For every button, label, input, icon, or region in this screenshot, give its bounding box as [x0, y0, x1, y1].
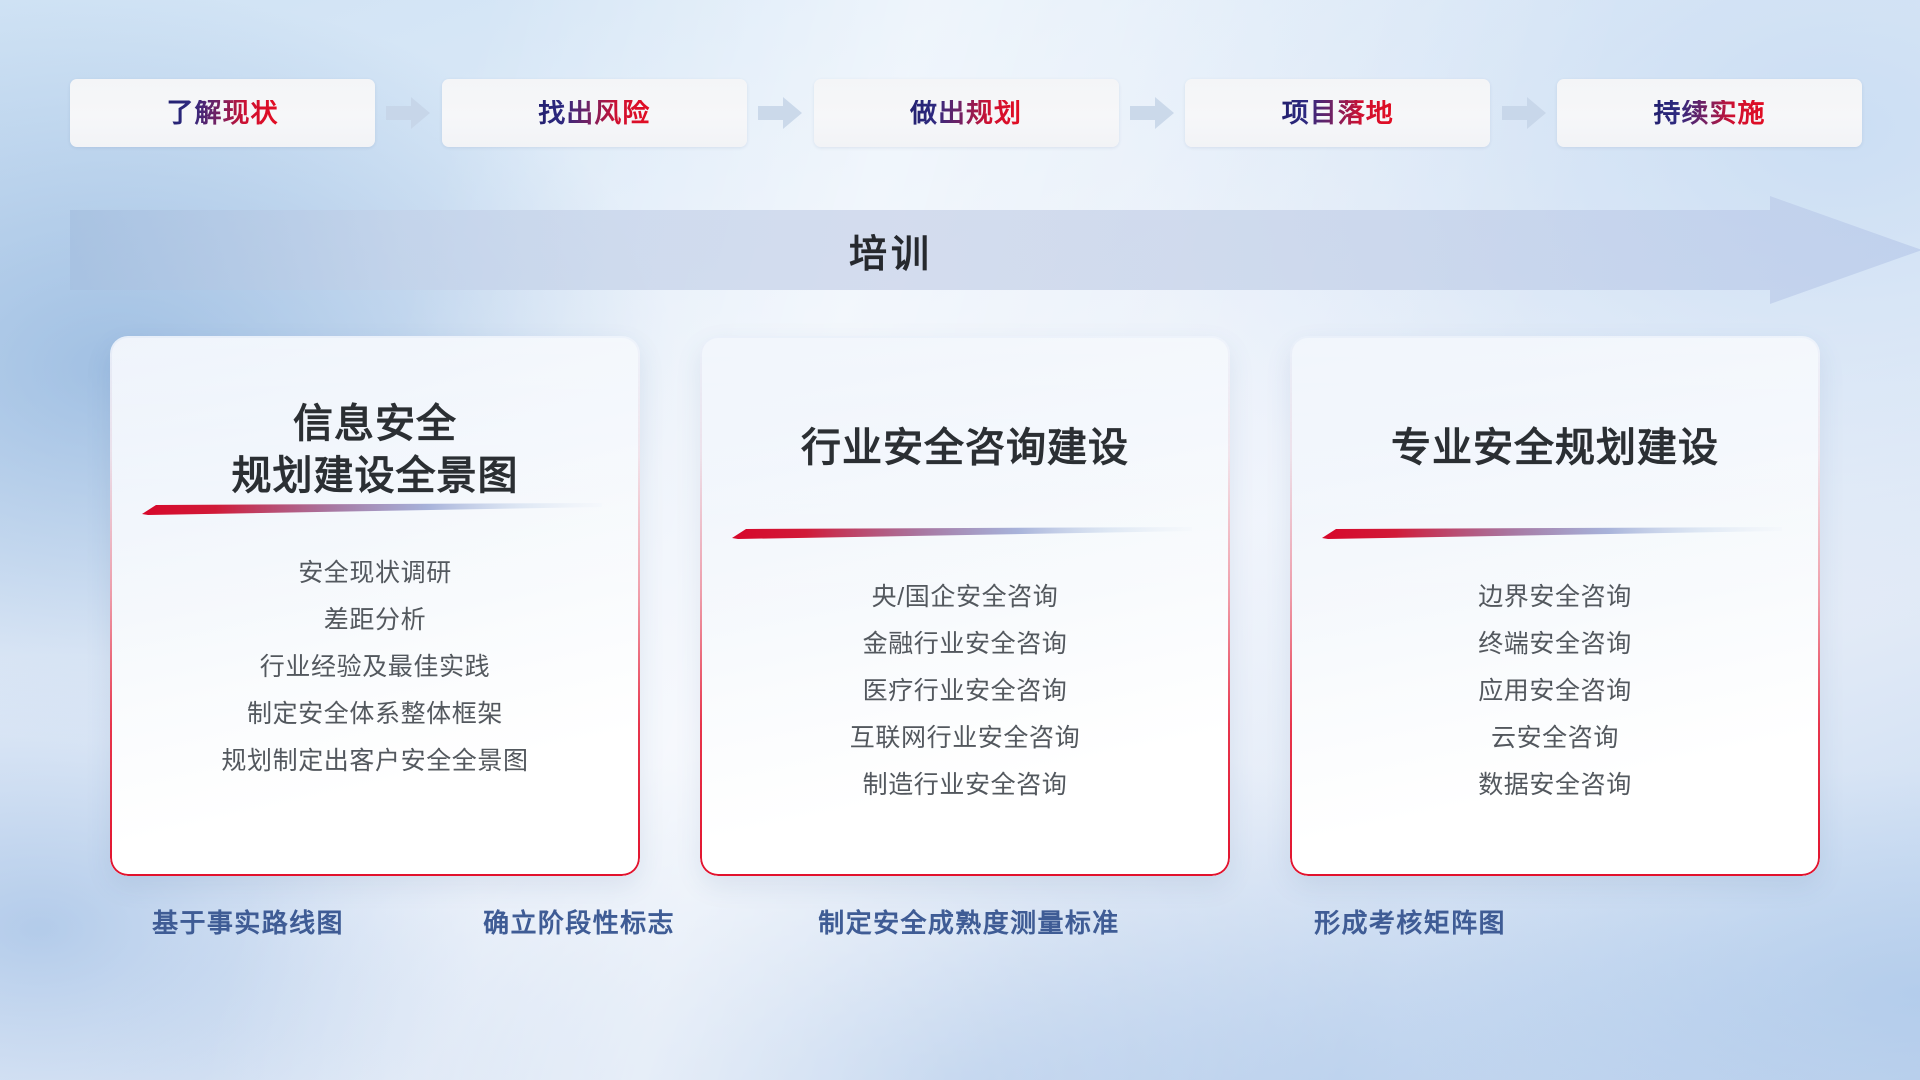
list-item: 应用安全咨询 — [1320, 668, 1790, 715]
list-item: 互联网行业安全咨询 — [730, 715, 1200, 762]
list-item: 央/国企安全咨询 — [730, 574, 1200, 621]
outcome-label-2: 确立阶段性标志 — [483, 910, 675, 936]
step-connector-1 — [375, 96, 442, 130]
service-card-2[interactable]: 行业安全咨询建设 央/国企安全咨询 金融行业安全咨询 医 — [700, 336, 1230, 876]
card-title: 信息安全 规划建设全景图 — [140, 398, 610, 502]
process-step-label: 项目落地 — [1282, 100, 1394, 127]
process-step-row: 了解现状 找出风险 做出规划 项目落地 — [70, 78, 1862, 148]
list-item: 金融行业安全咨询 — [730, 621, 1200, 668]
card-divider-icon — [1320, 526, 1782, 539]
service-card-3[interactable]: 专业安全规划建设 边界安全咨询 终端安全咨询 应用安全咨 — [1290, 336, 1820, 876]
arrow-right-icon — [1130, 96, 1174, 130]
card-item-list: 边界安全咨询 终端安全咨询 应用安全咨询 云安全咨询 数据安全咨询 — [1320, 574, 1790, 809]
list-item: 安全现状调研 — [140, 550, 610, 597]
list-item: 制定安全体系整体框架 — [140, 691, 610, 738]
card-title: 专业安全规划建设 — [1320, 422, 1790, 474]
step-connector-2 — [747, 96, 814, 130]
service-card-1[interactable]: 信息安全 规划建设全景图 安全现状调研 差距分析 行业经 — [110, 336, 640, 876]
list-item: 云安全咨询 — [1320, 715, 1790, 762]
process-step-label: 找出风险 — [538, 100, 650, 127]
process-step-2[interactable]: 找出风险 — [442, 79, 747, 147]
card-divider-icon — [730, 526, 1192, 539]
arrow-right-icon — [1502, 96, 1546, 130]
list-item: 终端安全咨询 — [1320, 621, 1790, 668]
card-divider-icon — [140, 502, 602, 515]
service-card-row: 信息安全 规划建设全景图 安全现状调研 差距分析 行业经 — [110, 336, 1820, 876]
card-item-list: 央/国企安全咨询 金融行业安全咨询 医疗行业安全咨询 互联网行业安全咨询 制造行… — [730, 574, 1200, 809]
outcome-label-1: 基于事实路线图 — [152, 910, 344, 936]
arrow-right-icon — [386, 96, 430, 130]
list-item: 规划制定出客户安全全景图 — [140, 738, 610, 785]
process-step-5[interactable]: 持续实施 — [1557, 79, 1862, 147]
slide-canvas: 了解现状 找出风险 做出规划 项目落地 — [0, 0, 1920, 1080]
training-banner: 培训 — [70, 196, 1920, 304]
process-step-label: 持续实施 — [1654, 100, 1766, 127]
training-banner-label: 培训 — [70, 196, 1712, 304]
process-step-label: 了解现状 — [167, 100, 279, 127]
process-step-3[interactable]: 做出规划 — [814, 79, 1119, 147]
outcome-label-4: 形成考核矩阵图 — [1314, 910, 1506, 936]
list-item: 医疗行业安全咨询 — [730, 668, 1200, 715]
process-step-4[interactable]: 项目落地 — [1185, 79, 1490, 147]
card-item-list: 安全现状调研 差距分析 行业经验及最佳实践 制定安全体系整体框架 规划制定出客户… — [140, 550, 610, 785]
list-item: 数据安全咨询 — [1320, 762, 1790, 809]
step-connector-4 — [1490, 96, 1557, 130]
list-item: 制造行业安全咨询 — [730, 762, 1200, 809]
process-step-label: 做出规划 — [910, 100, 1022, 127]
list-item: 行业经验及最佳实践 — [140, 644, 610, 691]
arrow-right-icon — [758, 96, 802, 130]
outcome-label-row: 基于事实路线图 确立阶段性标志 制定安全成熟度测量标准 形成考核矩阵图 — [0, 910, 1920, 960]
card-title: 行业安全咨询建设 — [730, 422, 1200, 474]
step-connector-3 — [1119, 96, 1186, 130]
process-step-1[interactable]: 了解现状 — [70, 79, 375, 147]
outcome-label-3: 制定安全成熟度测量标准 — [818, 910, 1119, 936]
list-item: 边界安全咨询 — [1320, 574, 1790, 621]
list-item: 差距分析 — [140, 597, 610, 644]
